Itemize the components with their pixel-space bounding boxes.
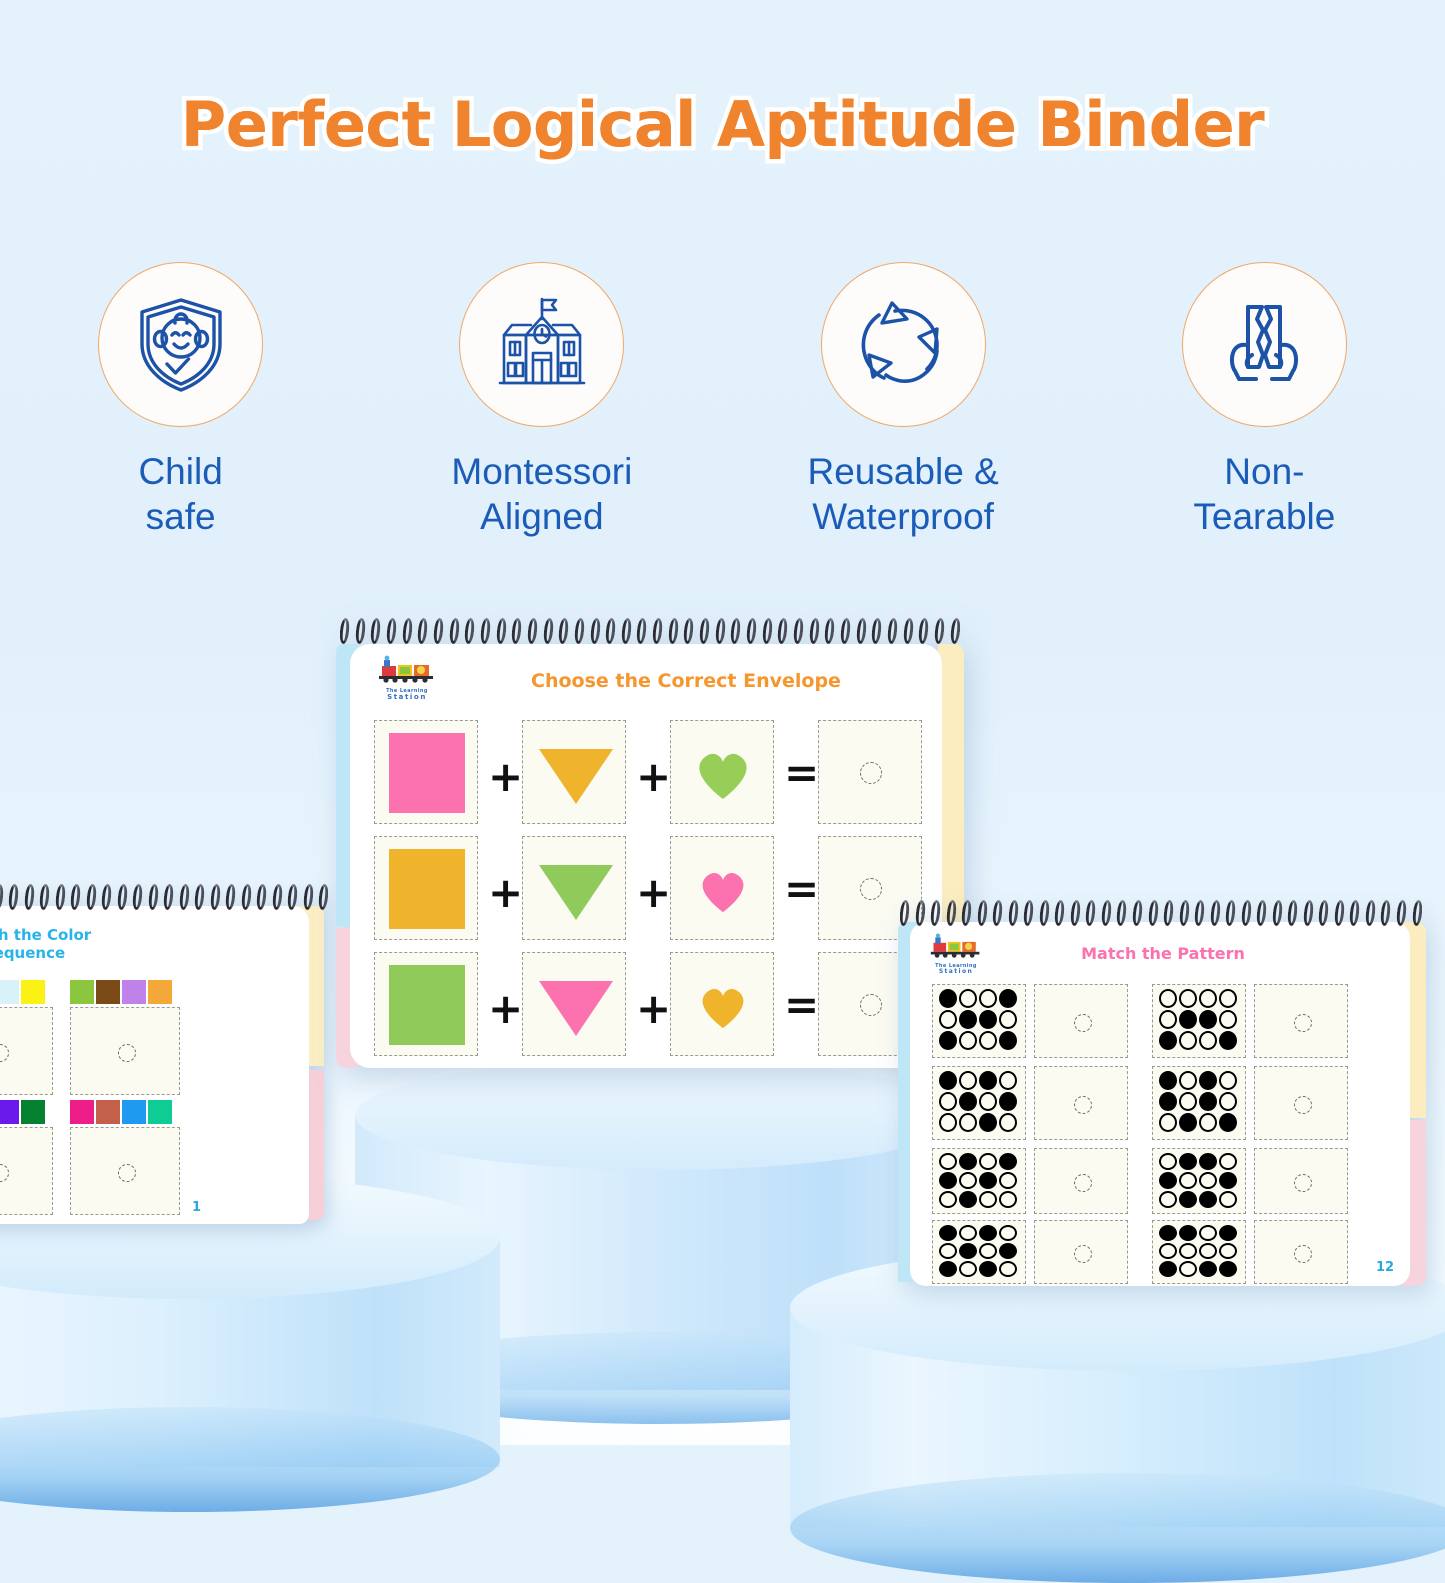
brand-logo-line2: Station [376, 694, 438, 701]
dot-empty [1179, 1071, 1197, 1090]
dot-empty [939, 1113, 957, 1132]
dot-filled [939, 1172, 957, 1189]
dot-filled [1179, 1225, 1197, 1241]
dot-filled [1219, 1225, 1237, 1241]
dot-filled [1219, 1031, 1237, 1050]
shape-cell[interactable] [374, 836, 478, 940]
dot-filled [979, 1172, 997, 1189]
dot-empty [1159, 1191, 1177, 1208]
plus-operator: + [636, 868, 671, 917]
dot-filled [1199, 1153, 1217, 1170]
dot-filled [1179, 1153, 1197, 1170]
color-swatch [96, 980, 120, 1004]
feature-label: Child safe [138, 449, 222, 539]
pattern-cell[interactable] [932, 984, 1026, 1058]
dot-grid [939, 1071, 1017, 1132]
dot-filled [999, 1092, 1017, 1111]
brand-logo: The Learning Station [928, 932, 984, 974]
answer-cell[interactable] [1254, 1148, 1348, 1214]
equals-operator: = [784, 980, 819, 1029]
dot-grid [939, 1153, 1017, 1208]
orange-triangle [539, 749, 613, 804]
plus-operator: + [636, 984, 671, 1033]
answer-cell[interactable] [1034, 1066, 1128, 1140]
feature-label-line1: Child [138, 449, 222, 494]
dot-empty [1199, 1243, 1217, 1259]
answer-cell[interactable] [1254, 1220, 1348, 1284]
answer-cell[interactable] [1034, 1220, 1128, 1284]
green-heart [693, 747, 753, 801]
dot-filled [959, 1092, 977, 1111]
spiral-ring [900, 900, 910, 926]
scene-root: Perfect Logical Aptitude Binder Perfect … [0, 0, 1445, 1445]
dot-empty [999, 1261, 1017, 1277]
dot-filled [1179, 1010, 1197, 1029]
answer-cell[interactable] [1034, 984, 1128, 1058]
color-swatch [0, 980, 19, 1004]
dot-empty [1159, 1153, 1177, 1170]
dot-empty [939, 1153, 957, 1170]
dot-empty [959, 1031, 977, 1050]
dot-filled [1159, 1092, 1177, 1111]
color-swatch [148, 980, 172, 1004]
color-swatch [21, 980, 45, 1004]
answer-target-circle [1074, 1096, 1092, 1114]
dot-empty [979, 1092, 997, 1111]
dot-filled [959, 1191, 977, 1208]
pattern-cell[interactable] [1152, 1220, 1246, 1284]
brand-logo-line2: Station [928, 969, 984, 975]
color-swatch [122, 1100, 146, 1124]
shape-cell[interactable] [670, 952, 774, 1056]
feature-child-safe: Child safe [0, 262, 361, 539]
dot-filled [939, 1031, 957, 1050]
dot-empty [999, 1172, 1017, 1189]
answer-target-circle [0, 1044, 9, 1062]
dot-filled [939, 1071, 957, 1090]
color-swatch [122, 980, 146, 1004]
equals-operator: = [784, 864, 819, 913]
answer-target-circle [1074, 1014, 1092, 1032]
shape-cell[interactable] [374, 952, 478, 1056]
dot-filled [979, 1071, 997, 1090]
dot-empty [1219, 1153, 1237, 1170]
dot-filled [1199, 1092, 1217, 1111]
train-logo-icon [928, 932, 984, 959]
dot-empty [1179, 1243, 1197, 1259]
dot-empty [999, 1113, 1017, 1132]
dot-empty [979, 989, 997, 1008]
pink-heart [697, 867, 749, 914]
dot-filled [959, 1153, 977, 1170]
dot-empty [1219, 1092, 1237, 1111]
spiral-ring [340, 618, 350, 644]
answer-target-circle [1294, 1096, 1312, 1114]
page-heading: Choose the Correct Envelope [526, 670, 846, 692]
dot-filled [999, 1243, 1017, 1259]
dot-empty [939, 1243, 957, 1259]
color-swatch [0, 1100, 19, 1124]
dot-empty [1179, 989, 1197, 1008]
dot-filled [1199, 1261, 1217, 1277]
page-heading: Match the Pattern [1038, 944, 1288, 963]
brand-logo: The Learning Station [376, 654, 438, 700]
dot-empty [1219, 989, 1237, 1008]
dot-filled [1159, 1031, 1177, 1050]
feature-label-line1: Non- [1193, 449, 1335, 494]
dot-filled [1159, 1172, 1177, 1189]
dot-empty [939, 1010, 957, 1029]
spiral-binding [340, 618, 960, 644]
dot-filled [959, 1243, 977, 1259]
pattern-cell[interactable] [1152, 1148, 1246, 1214]
dot-filled [1159, 1261, 1177, 1277]
dot-empty [1179, 1172, 1197, 1189]
answer-cell[interactable] [1254, 1066, 1348, 1140]
shape-cell[interactable] [374, 720, 478, 824]
dot-empty [959, 989, 977, 1008]
shape-cell[interactable] [522, 952, 626, 1056]
dot-filled [939, 989, 957, 1008]
feature-label-line2: Waterproof [807, 494, 998, 539]
dot-filled [939, 1225, 957, 1241]
dot-empty [999, 1010, 1017, 1029]
answer-target-circle [1074, 1245, 1092, 1263]
answer-target-circle [118, 1164, 136, 1182]
spiral-binding [900, 900, 1422, 926]
feature-icon-circle [821, 262, 986, 427]
dot-empty [979, 1031, 997, 1050]
dot-filled [1219, 1172, 1237, 1189]
feature-label: Reusable & Waterproof [807, 449, 998, 539]
dot-empty [1179, 1261, 1197, 1277]
dot-empty [999, 1225, 1017, 1241]
answer-target-circle [1294, 1245, 1312, 1263]
dot-filled [939, 1261, 957, 1277]
orange-heart [697, 983, 749, 1030]
dot-filled [1219, 1113, 1237, 1132]
orange-square [389, 849, 465, 929]
dot-grid [939, 989, 1017, 1050]
page-number: 12 [1376, 1260, 1394, 1275]
dot-empty [979, 1191, 997, 1208]
podium-top [355, 1060, 965, 1170]
dot-empty [1199, 989, 1217, 1008]
dot-grid [1159, 1225, 1237, 1277]
pattern-cell[interactable] [1152, 984, 1246, 1058]
dot-empty [959, 1225, 977, 1241]
dot-empty [1219, 1010, 1237, 1029]
answer-target-circle [1074, 1174, 1092, 1192]
pattern-cell[interactable] [1152, 1066, 1246, 1140]
dot-filled [959, 1010, 977, 1029]
green-square [389, 965, 465, 1045]
recycle-arrows-icon [851, 293, 955, 397]
dot-filled [1199, 1071, 1217, 1090]
plus-operator: + [488, 752, 523, 801]
equals-operator: = [784, 748, 819, 797]
train-logo-icon [376, 654, 438, 684]
dot-empty [1219, 1243, 1237, 1259]
answer-cell[interactable] [1034, 1148, 1128, 1214]
dot-empty [939, 1092, 957, 1111]
green-triangle [539, 865, 613, 920]
feature-non-tearable: Non- Tearable [1084, 262, 1445, 539]
dot-filled [999, 1153, 1017, 1170]
dot-empty [979, 1243, 997, 1259]
color-swatch [70, 1100, 94, 1124]
color-swatch [96, 1100, 120, 1124]
dot-empty [1219, 1191, 1237, 1208]
dot-grid [1159, 1071, 1237, 1132]
pink-square [389, 733, 465, 813]
dot-empty [939, 1191, 957, 1208]
feature-icon-circle [459, 262, 624, 427]
answer-target-circle [860, 878, 882, 900]
dot-grid [939, 1225, 1017, 1277]
feature-icon-circle [1182, 262, 1347, 427]
page-heading: Match the Color Sequence [0, 926, 134, 962]
pink-triangle [539, 981, 613, 1036]
dot-empty [1219, 1071, 1237, 1090]
color-swatch [70, 980, 94, 1004]
podium-bottom-edge [790, 1473, 1445, 1583]
dot-empty [1159, 1113, 1177, 1132]
answer-target-circle [118, 1044, 136, 1062]
feature-montessori-aligned: Montessori Aligned [361, 262, 722, 539]
feature-label-line2: Tearable [1193, 494, 1335, 539]
answer-target-circle [1294, 1174, 1312, 1192]
feature-label-line2: Aligned [451, 494, 632, 539]
dot-empty [959, 1261, 977, 1277]
spiral-binding [0, 884, 328, 910]
feature-label: Montessori Aligned [451, 449, 632, 539]
dot-filled [1199, 1010, 1217, 1029]
hands-tearing-paper-icon [1212, 293, 1316, 397]
plus-operator: + [636, 752, 671, 801]
pattern-cell[interactable] [932, 1220, 1026, 1284]
pattern-cell[interactable] [932, 1148, 1026, 1214]
shape-cell[interactable] [522, 720, 626, 824]
dot-empty [959, 1071, 977, 1090]
shape-cell[interactable] [670, 836, 774, 940]
feature-label-line1: Montessori [451, 449, 632, 494]
feature-label: Non- Tearable [1193, 449, 1335, 539]
dot-filled [1179, 1191, 1197, 1208]
dot-empty [1159, 1010, 1177, 1029]
answer-target-circle [860, 994, 882, 1016]
dot-empty [979, 1153, 997, 1170]
shape-cell[interactable] [670, 720, 774, 824]
dot-filled [1219, 1261, 1237, 1277]
dot-empty [1179, 1092, 1197, 1111]
pattern-cell[interactable] [932, 1066, 1026, 1140]
dot-empty [999, 1191, 1017, 1208]
answer-cell[interactable] [70, 1127, 180, 1215]
dot-empty [1179, 1031, 1197, 1050]
feature-label-line2: safe [138, 494, 222, 539]
dot-empty [1199, 1225, 1217, 1241]
answer-cell[interactable] [1254, 984, 1348, 1058]
dot-empty [1199, 1113, 1217, 1132]
feature-label-line1: Reusable & [807, 449, 998, 494]
color-swatch [21, 1100, 45, 1124]
school-building-icon [490, 293, 594, 397]
dot-filled [979, 1010, 997, 1029]
answer-cell[interactable] [0, 1127, 53, 1215]
dot-filled [999, 989, 1017, 1008]
answer-target-circle [0, 1164, 9, 1182]
page-title: Perfect Logical Aptitude Binder [0, 88, 1445, 161]
dot-empty [959, 1172, 977, 1189]
dot-grid [1159, 989, 1237, 1050]
color-swatch [148, 1100, 172, 1124]
dot-grid [1159, 1153, 1237, 1208]
answer-cell[interactable] [70, 1007, 180, 1095]
dot-filled [979, 1113, 997, 1132]
plus-operator: + [488, 984, 523, 1033]
answer-cell[interactable] [818, 720, 922, 824]
dot-filled [1159, 1225, 1177, 1241]
book-left[interactable]: Match the Color Sequence [0, 884, 324, 1244]
shield-baby-check-icon [128, 292, 234, 398]
answer-target-circle [1294, 1014, 1312, 1032]
dot-empty [959, 1113, 977, 1132]
shape-cell[interactable] [522, 836, 626, 940]
dot-empty [1159, 989, 1177, 1008]
dot-filled [999, 1031, 1017, 1050]
dot-empty [999, 1071, 1017, 1090]
dot-filled [1199, 1191, 1217, 1208]
feature-list: Child safe [0, 262, 1445, 539]
book-center[interactable]: The Learning Station Choose the Correct … [336, 618, 964, 1076]
page-number: 1 [192, 1200, 201, 1215]
dot-filled [1179, 1113, 1197, 1132]
dot-filled [979, 1225, 997, 1241]
answer-cell[interactable] [0, 1007, 53, 1095]
feature-icon-circle [98, 262, 263, 427]
dot-empty [1199, 1031, 1217, 1050]
dot-filled [979, 1261, 997, 1277]
dot-filled [1159, 1071, 1177, 1090]
dot-empty [1159, 1243, 1177, 1259]
dot-empty [1199, 1172, 1217, 1189]
feature-reusable-waterproof: Reusable & Waterproof [723, 262, 1084, 539]
book-right[interactable]: The Learning Station Match the Pattern 1… [898, 900, 1426, 1290]
plus-operator: + [488, 868, 523, 917]
answer-target-circle [860, 762, 882, 784]
